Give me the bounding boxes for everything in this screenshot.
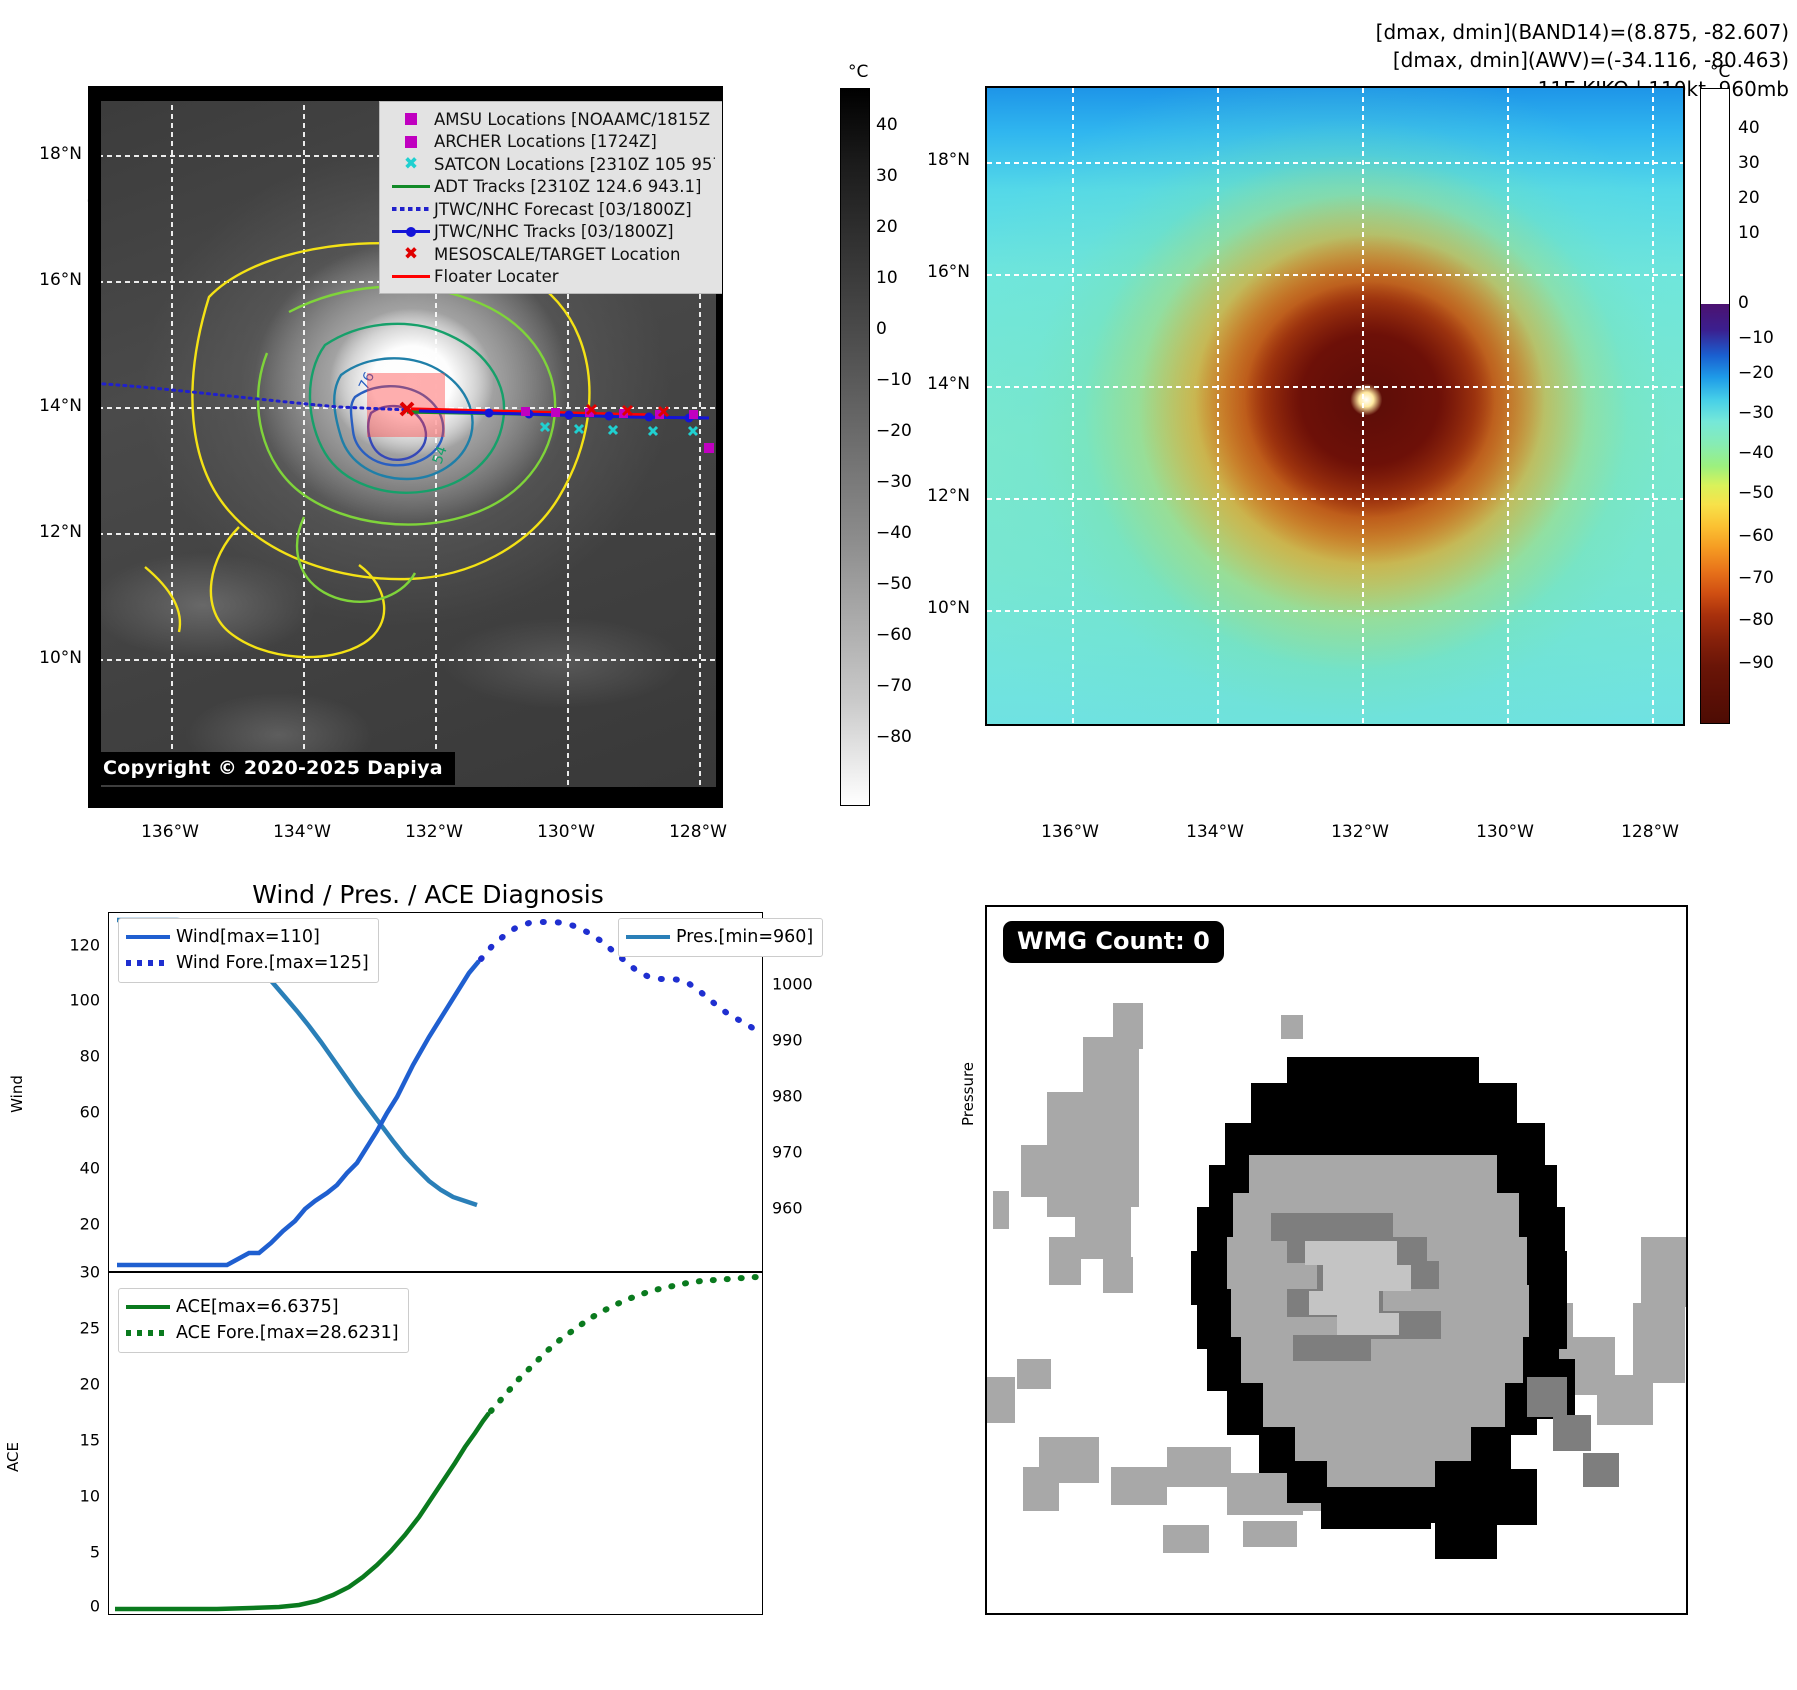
ir-frame-edge-bottom — [89, 787, 722, 807]
awv-lat-tick: 16°N — [908, 262, 970, 282]
pressure-ytick: 970 — [772, 1143, 842, 1162]
line-dotted-icon — [126, 960, 176, 966]
legend-label: SATCON Locations [2310Z 105 957] — [434, 155, 715, 174]
awv-gridline-lat — [987, 162, 1683, 164]
ir-map-legend: AMSU Locations [NOAAMC/1815Z 104 973] AR… — [379, 101, 723, 294]
awv-gridline-lon — [1362, 88, 1364, 724]
copyright-label: Copyright © 2020-2025 Dapiya — [95, 752, 455, 785]
x-marker-icon: ✖ — [388, 246, 434, 263]
ir-lon-tick: 132°W — [405, 822, 463, 842]
ace-ytick: 10 — [40, 1487, 100, 1506]
legend-item-wind-forecast[interactable]: Wind Fore.[max=125] — [126, 950, 369, 976]
awv-gridline-lat — [987, 386, 1683, 388]
svg-text:54: 54 — [430, 444, 451, 466]
legend-label: MESOSCALE/TARGET Location — [434, 245, 680, 264]
legend-label: JTWC/NHC Forecast [03/1800Z] — [434, 200, 692, 219]
ir-lat-tick: 10°N — [20, 648, 82, 668]
pressure-ytick: 990 — [772, 1031, 842, 1050]
ace-ytick: 5 — [40, 1543, 100, 1562]
awv-lon-tick: 128°W — [1621, 822, 1679, 842]
wind-ytick: 80 — [40, 1047, 100, 1066]
line-solid-icon — [388, 185, 434, 188]
awv-colorbar — [1700, 88, 1730, 724]
legend-item-adt-tracks[interactable]: ADT Tracks [2310Z 124.6 943.1] — [388, 176, 715, 199]
legend-label: ACE[max=6.6375] — [176, 1297, 339, 1317]
ir-band14-image-panel[interactable]: 76 54 — [88, 86, 723, 808]
awv-gridline-lon — [1072, 88, 1074, 724]
ir-lon-tick: 134°W — [273, 822, 331, 842]
legend-label: Wind Fore.[max=125] — [176, 953, 369, 973]
ace-ytick: 25 — [40, 1319, 100, 1338]
legend-label: AMSU Locations [NOAAMC/1815Z 104 973] — [434, 110, 715, 129]
wind-ytick: 20 — [40, 1215, 100, 1234]
awv-lat-tick: 14°N — [908, 374, 970, 394]
pressure-ytick: 1000 — [772, 975, 842, 994]
legend-item-jtwc-forecast[interactable]: JTWC/NHC Forecast [03/1800Z] — [388, 198, 715, 221]
legend-item-archer[interactable]: ARCHER Locations [1724Z] — [388, 131, 715, 154]
line-solid-icon — [126, 1305, 176, 1310]
ace-chart-legend: ACE[max=6.6375] ACE Fore.[max=28.6231] — [118, 1288, 409, 1353]
awv-lat-tick: 12°N — [908, 486, 970, 506]
ir-lat-tick: 12°N — [20, 522, 82, 542]
pressure-axis-label: Pressure — [959, 1062, 977, 1126]
legend-label: Pres.[min=960] — [676, 927, 813, 947]
line-solid-icon — [126, 935, 176, 940]
ir-lat-tick: 14°N — [20, 396, 82, 416]
wind-axis-label: Wind — [8, 1075, 26, 1113]
legend-item-amsu[interactable]: AMSU Locations [NOAAMC/1815Z 104 973] — [388, 108, 715, 131]
awv-colorbar-unit-label: °C — [1710, 62, 1730, 82]
x-marker-icon: ✖ — [388, 156, 434, 173]
legend-label: Floater Locater — [434, 267, 559, 286]
legend-item-satcon[interactable]: ✖ SATCON Locations [2310Z 105 957] — [388, 153, 715, 176]
square-marker-icon — [388, 113, 434, 125]
wind-ytick: 40 — [40, 1159, 100, 1178]
awv-lon-tick: 136°W — [1041, 822, 1099, 842]
wmg-mask-imagery — [987, 907, 1688, 1615]
legend-label: ACE Fore.[max=28.6231] — [176, 1323, 399, 1343]
awv-lon-tick: 130°W — [1476, 822, 1534, 842]
ace-ytick: 15 — [40, 1431, 100, 1450]
ir-lat-tick: 18°N — [20, 144, 82, 164]
ace-ytick: 30 — [40, 1263, 100, 1282]
square-marker-icon — [388, 136, 434, 148]
wmg-cloud-mask-panel[interactable]: WMG Count: 0 — [985, 905, 1688, 1615]
pressure-ytick: 960 — [772, 1199, 842, 1218]
ace-ytick: 0 — [40, 1597, 100, 1616]
awv-gridline-lat — [987, 274, 1683, 276]
line-marker-icon — [388, 230, 434, 233]
awv-lat-tick: 18°N — [908, 150, 970, 170]
wmg-count-badge: WMG Count: 0 — [1003, 921, 1224, 963]
line-solid-icon — [388, 275, 434, 278]
awv-satellite-imagery — [987, 88, 1683, 724]
wind-chart-legend: Wind[max=110] Wind Fore.[max=125] — [118, 918, 379, 983]
ir-colorbar — [840, 88, 870, 806]
line-solid-icon — [626, 935, 676, 940]
ir-lon-tick: 130°W — [537, 822, 595, 842]
legend-item-ace-forecast[interactable]: ACE Fore.[max=28.6231] — [126, 1320, 399, 1346]
ir-frame-edge-top — [89, 87, 722, 101]
awv-lat-tick: 10°N — [908, 598, 970, 618]
awv-gridline-lat — [987, 498, 1683, 500]
legend-item-floater-locater[interactable]: Floater Locater — [388, 266, 715, 289]
legend-label: ARCHER Locations [1724Z] — [434, 132, 657, 151]
legend-label: JTWC/NHC Tracks [03/1800Z] — [434, 222, 674, 241]
legend-item-ace[interactable]: ACE[max=6.6375] — [126, 1294, 399, 1320]
line-dotted-icon — [126, 1330, 176, 1336]
ace-axis-label: ACE — [4, 1442, 22, 1472]
wind-ytick: 100 — [40, 991, 100, 1010]
ir-lon-tick: 136°W — [141, 822, 199, 842]
wind-ytick: 120 — [40, 936, 100, 955]
awv-gridline-lat — [987, 610, 1683, 612]
legend-item-pressure[interactable]: Pres.[min=960] — [626, 924, 813, 950]
diagnosis-title: Wind / Pres. / ACE Diagnosis — [88, 880, 768, 909]
legend-item-wind[interactable]: Wind[max=110] — [126, 924, 369, 950]
pressure-ytick: 980 — [772, 1087, 842, 1106]
ir-colorbar-unit-label: °C — [848, 62, 868, 82]
line-dotted-icon — [388, 207, 434, 211]
ir-lon-tick: 128°W — [669, 822, 727, 842]
pressure-chart-legend: Pres.[min=960] — [618, 918, 823, 957]
legend-label: ADT Tracks [2310Z 124.6 943.1] — [434, 177, 701, 196]
legend-item-mesoscale-target[interactable]: ✖ MESOSCALE/TARGET Location — [388, 243, 715, 266]
awv-gridline-lon — [1652, 88, 1654, 724]
ir-frame-edge-left — [89, 87, 101, 807]
awv-gridline-lon — [1507, 88, 1509, 724]
awv-gridline-lon — [1217, 88, 1219, 724]
ace-ytick: 20 — [40, 1375, 100, 1394]
awv-image-panel[interactable] — [985, 86, 1685, 726]
legend-item-jtwc-tracks[interactable]: JTWC/NHC Tracks [03/1800Z] — [388, 221, 715, 244]
ir-lat-tick: 16°N — [20, 270, 82, 290]
legend-label: Wind[max=110] — [176, 927, 320, 947]
wind-ytick: 60 — [40, 1103, 100, 1122]
awv-lon-tick: 132°W — [1331, 822, 1389, 842]
awv-lon-tick: 134°W — [1186, 822, 1244, 842]
band14-range-text: [dmax, dmin](BAND14)=(8.875, -82.607) — [1376, 18, 1789, 46]
